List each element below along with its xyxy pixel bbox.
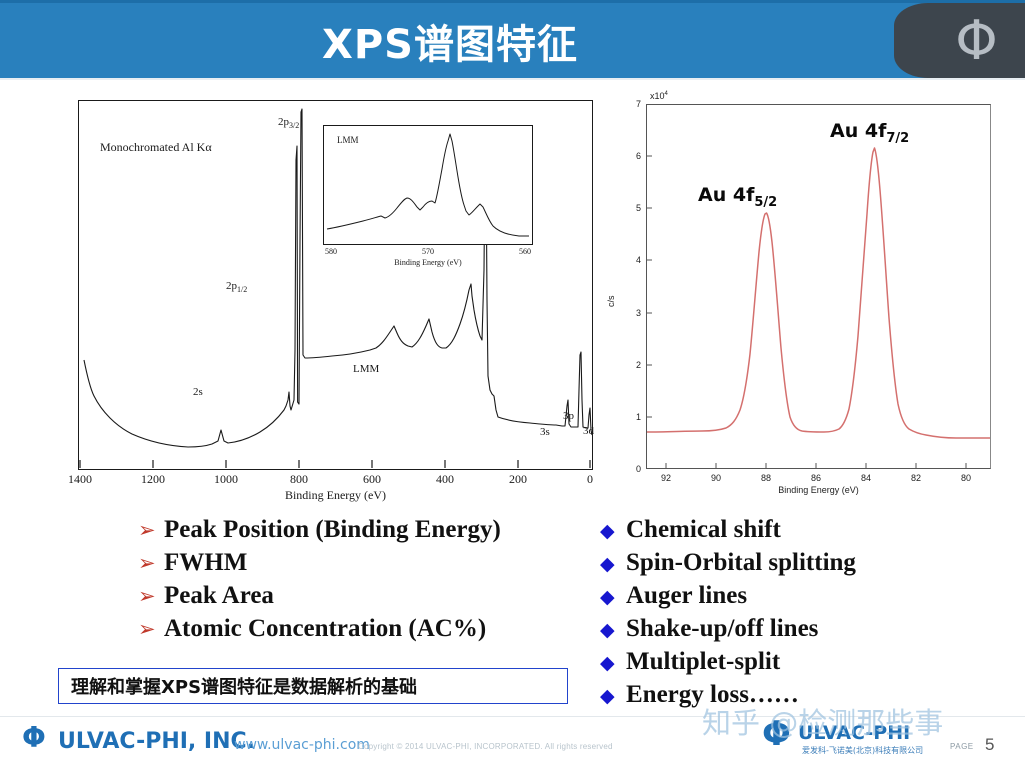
- list-item: ➢ Atomic Concentration (AC%): [138, 615, 588, 643]
- bullet-label: FWHM: [164, 549, 247, 577]
- footer-website-link[interactable]: www.ulvac-phi.com: [234, 737, 370, 753]
- list-item: ◆ Chemical shift: [600, 516, 1000, 544]
- page-label: PAGE: [950, 742, 974, 751]
- diamond-bullet-icon: ◆: [600, 687, 626, 706]
- list-item: ➢ FWHM: [138, 549, 588, 577]
- au4f-xtick-90: 90: [711, 473, 721, 483]
- bullet-label: Atomic Concentration (AC%): [164, 615, 486, 643]
- bullet-label: Shake-up/off lines: [626, 615, 818, 643]
- au4f-ytick-5: 5: [636, 203, 641, 213]
- au4f-ytick-4: 4: [636, 255, 641, 265]
- au4f-spectrum-chart: x104 7 6 5 4 3 2 1 0 c/s: [608, 92, 1008, 492]
- au4f-trace: [646, 104, 991, 469]
- au4f-xtick-86: 86: [811, 473, 821, 483]
- survey-xtick-1200: 1200: [141, 472, 165, 487]
- au4f-xtick-82: 82: [911, 473, 921, 483]
- au4f-ytick-3: 3: [636, 308, 641, 318]
- au4f-peak-label-7-2: Au 4f7/2: [830, 120, 909, 146]
- au4f-ytick-0: 0: [636, 464, 641, 474]
- survey-peak-label-3p: 3p: [563, 410, 574, 422]
- bullet-label: Auger lines: [626, 582, 747, 610]
- survey-xaxis-ticks: 1400 1200 1000 800 600 400 200 0: [78, 472, 593, 488]
- survey-xtick-600: 600: [363, 472, 381, 487]
- arrow-bullet-icon: ➢: [138, 619, 164, 640]
- phi-logo-icon: Φ: [22, 724, 46, 752]
- bullet-label: Energy loss……: [626, 681, 799, 709]
- au4f-ytick-2: 2: [636, 360, 641, 370]
- page-title: XPS谱图特征: [0, 3, 900, 78]
- list-item: ◆ Shake-up/off lines: [600, 615, 1000, 643]
- au4f-peak-label-5-2: Au 4f5/2: [698, 184, 777, 210]
- lmm-inset-chart: LMM 580 570 560 Binding Energy (eV): [323, 125, 533, 260]
- page-number: 5: [985, 735, 994, 755]
- au4f-ytick-6: 6: [636, 151, 641, 161]
- list-item: ◆ Energy loss……: [600, 681, 1000, 709]
- list-item: ◆ Spin-Orbital splitting: [600, 549, 1000, 577]
- survey-peak-label-3s: 3s: [540, 426, 550, 438]
- slide-header: Φ XPS谱图特征: [0, 0, 1025, 78]
- bullet-list-right: ◆ Chemical shift ◆ Spin-Orbital splittin…: [600, 516, 1000, 714]
- au4f-xaxis-title: Binding Energy (eV): [646, 485, 991, 495]
- bullet-label: Peak Position (Binding Energy): [164, 516, 501, 544]
- phi-logo-icon: Φ: [762, 717, 791, 751]
- footer-cn-logo: Φ ULVAC-PHI 爱发科-飞诺美(北京)科技有限公司: [762, 714, 942, 760]
- bullet-label: Multiplet-split: [626, 648, 780, 676]
- diamond-bullet-icon: ◆: [600, 588, 626, 607]
- footer-cn-subsidiary: 爱发科-飞诺美(北京)科技有限公司: [802, 745, 923, 756]
- diamond-bullet-icon: ◆: [600, 522, 626, 541]
- list-item: ➢ Peak Area: [138, 582, 588, 610]
- diamond-bullet-icon: ◆: [600, 621, 626, 640]
- au4f-xtick-92: 92: [661, 473, 671, 483]
- arrow-bullet-icon: ➢: [138, 586, 164, 607]
- bullet-list-left: ➢ Peak Position (Binding Energy) ➢ FWHM …: [138, 516, 588, 648]
- callout-text: 理解和掌握XPS谱图特征是数据解析的基础: [71, 673, 417, 699]
- survey-xtick-1000: 1000: [214, 472, 238, 487]
- lmm-inset-xtick-570: 570: [422, 247, 434, 256]
- survey-peak-label-lmm: LMM: [353, 363, 379, 375]
- list-item: ➢ Peak Position (Binding Energy): [138, 516, 588, 544]
- lmm-inset-xtick-560: 560: [519, 247, 531, 256]
- footer-copyright: Copyright © 2014 ULVAC-PHI, INCORPORATED…: [358, 742, 613, 751]
- survey-peak-label-2p32: 2p3/2: [278, 116, 299, 130]
- survey-xtick-0: 0: [587, 472, 593, 487]
- lmm-inset-xaxis-title: Binding Energy (eV): [323, 258, 533, 267]
- au4f-xtick-80: 80: [961, 473, 971, 483]
- au4f-xtick-84: 84: [861, 473, 871, 483]
- lmm-inset-xtick-580: 580: [325, 247, 337, 256]
- survey-peak-label-2s: 2s: [193, 386, 203, 398]
- survey-xtick-1400: 1400: [68, 472, 92, 487]
- diamond-bullet-icon: ◆: [600, 555, 626, 574]
- bullet-label: Peak Area: [164, 582, 274, 610]
- footer-brand-name: ULVAC-PHI, INC.: [58, 729, 255, 754]
- au4f-yaxis-title: c/s: [606, 295, 616, 307]
- au4f-yaxis-ticks: 7 6 5 4 3 2 1 0: [608, 104, 641, 469]
- survey-peak-label-3d: 3d: [583, 425, 594, 437]
- au4f-ytick-1: 1: [636, 412, 641, 422]
- header-underline: [0, 78, 1025, 80]
- phi-logo-icon: Φ: [928, 3, 1025, 78]
- survey-xtick-400: 400: [436, 472, 454, 487]
- footer-cn-brand-name: ULVAC-PHI: [798, 722, 910, 744]
- diamond-bullet-icon: ◆: [600, 654, 626, 673]
- survey-peak-label-2p12: 2p1/2: [226, 280, 247, 294]
- au4f-ytick-7: 7: [636, 99, 641, 109]
- survey-xtick-800: 800: [290, 472, 308, 487]
- callout-box: 理解和掌握XPS谱图特征是数据解析的基础: [58, 668, 568, 704]
- lmm-inset-trace: [323, 125, 533, 245]
- list-item: ◆ Multiplet-split: [600, 648, 1000, 676]
- survey-spectrum-chart: Monochromated Al Kα 2p3/2 2p1/2 2s LMM 3…: [78, 100, 593, 470]
- bullet-label: Chemical shift: [626, 516, 781, 544]
- au4f-y-exponent: x104: [650, 91, 668, 101]
- survey-xaxis-title: Binding Energy (eV): [78, 488, 593, 503]
- bullet-label: Spin-Orbital splitting: [626, 549, 856, 577]
- survey-xtick-200: 200: [509, 472, 527, 487]
- au4f-xtick-88: 88: [761, 473, 771, 483]
- arrow-bullet-icon: ➢: [138, 553, 164, 574]
- list-item: ◆ Auger lines: [600, 582, 1000, 610]
- arrow-bullet-icon: ➢: [138, 520, 164, 541]
